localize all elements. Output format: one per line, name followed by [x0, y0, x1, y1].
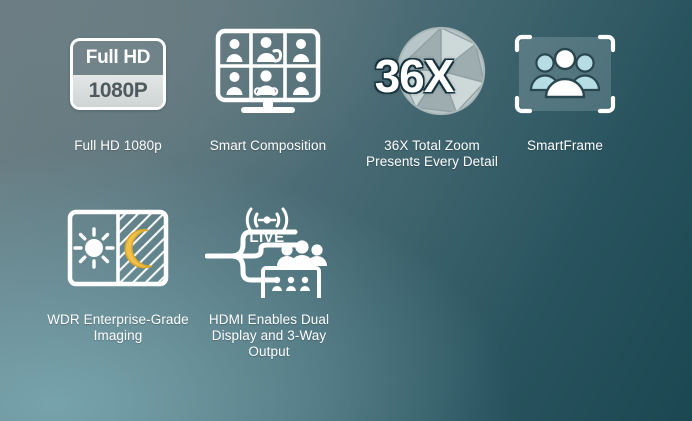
feature-caption-full-hd: Full HD 1080p	[74, 138, 162, 154]
feature-card-hdmi[interactable]: LIVE	[196, 198, 342, 360]
feature-card-full-hd[interactable]: Full HD 1080P Full HD 1080p	[42, 24, 194, 154]
feature-caption-total-zoom: 36X Total Zoom Presents Every Detail	[366, 138, 498, 170]
feature-grid: Full HD 1080P Full HD 1080p	[0, 0, 692, 421]
feature-caption-smart-composition: Smart Composition	[210, 138, 327, 154]
sun-moon-split-icon	[66, 198, 170, 298]
feature-caption-wdr: WDR Enterprise-Grade Imaging	[47, 312, 189, 344]
camera-aperture-icon: 36X	[357, 24, 507, 124]
feature-card-total-zoom[interactable]: 36X 36X Total Zoom Presents Every Detail	[342, 24, 522, 170]
full-hd-badge-top-label: Full HD	[73, 41, 163, 75]
feature-card-smart-frame[interactable]: SmartFrame	[500, 24, 630, 154]
three-way-output-icon: LIVE	[205, 198, 333, 298]
full-hd-badge: Full HD 1080P	[70, 38, 166, 110]
zoom-value-label: 36X	[359, 49, 469, 103]
feature-caption-hdmi: HDMI Enables Dual Display and 3-Way Outp…	[209, 312, 329, 360]
video-grid-monitor-icon	[214, 24, 322, 124]
people-group-frame-icon	[513, 24, 617, 124]
full-hd-badge-bottom-label: 1080P	[73, 75, 163, 107]
full-hd-badge-icon: Full HD 1080P	[70, 24, 166, 124]
feature-highlight-panel: Full HD 1080P Full HD 1080p	[0, 0, 692, 421]
feature-card-wdr[interactable]: WDR Enterprise-Grade Imaging	[38, 198, 198, 344]
feature-caption-smart-frame: SmartFrame	[527, 138, 603, 154]
feature-card-smart-composition[interactable]: Smart Composition	[194, 24, 342, 154]
